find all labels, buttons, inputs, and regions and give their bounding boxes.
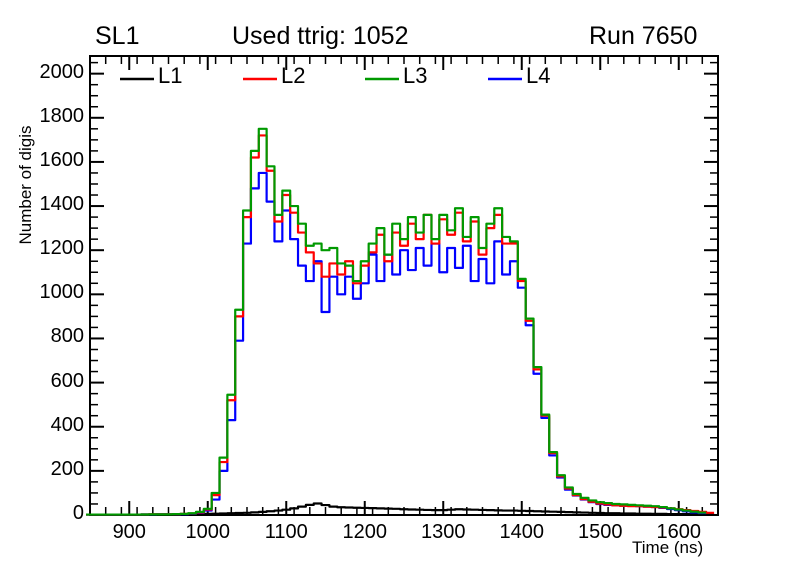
chart-root: SL1 Used ttrig: 1052 Run 7650 Number of …	[0, 0, 796, 572]
axis-ticks	[90, 56, 718, 515]
series-line-l3	[86, 129, 706, 515]
plot-canvas	[0, 0, 796, 572]
axis-frame	[90, 56, 718, 515]
legend-label-l4: L4	[526, 63, 550, 89]
legend-label-l3: L3	[403, 63, 427, 89]
legend-label-l2: L2	[281, 63, 305, 89]
legend-label-l1: L1	[158, 63, 182, 89]
data-series-group	[86, 129, 714, 515]
series-line-l2	[86, 135, 714, 514]
